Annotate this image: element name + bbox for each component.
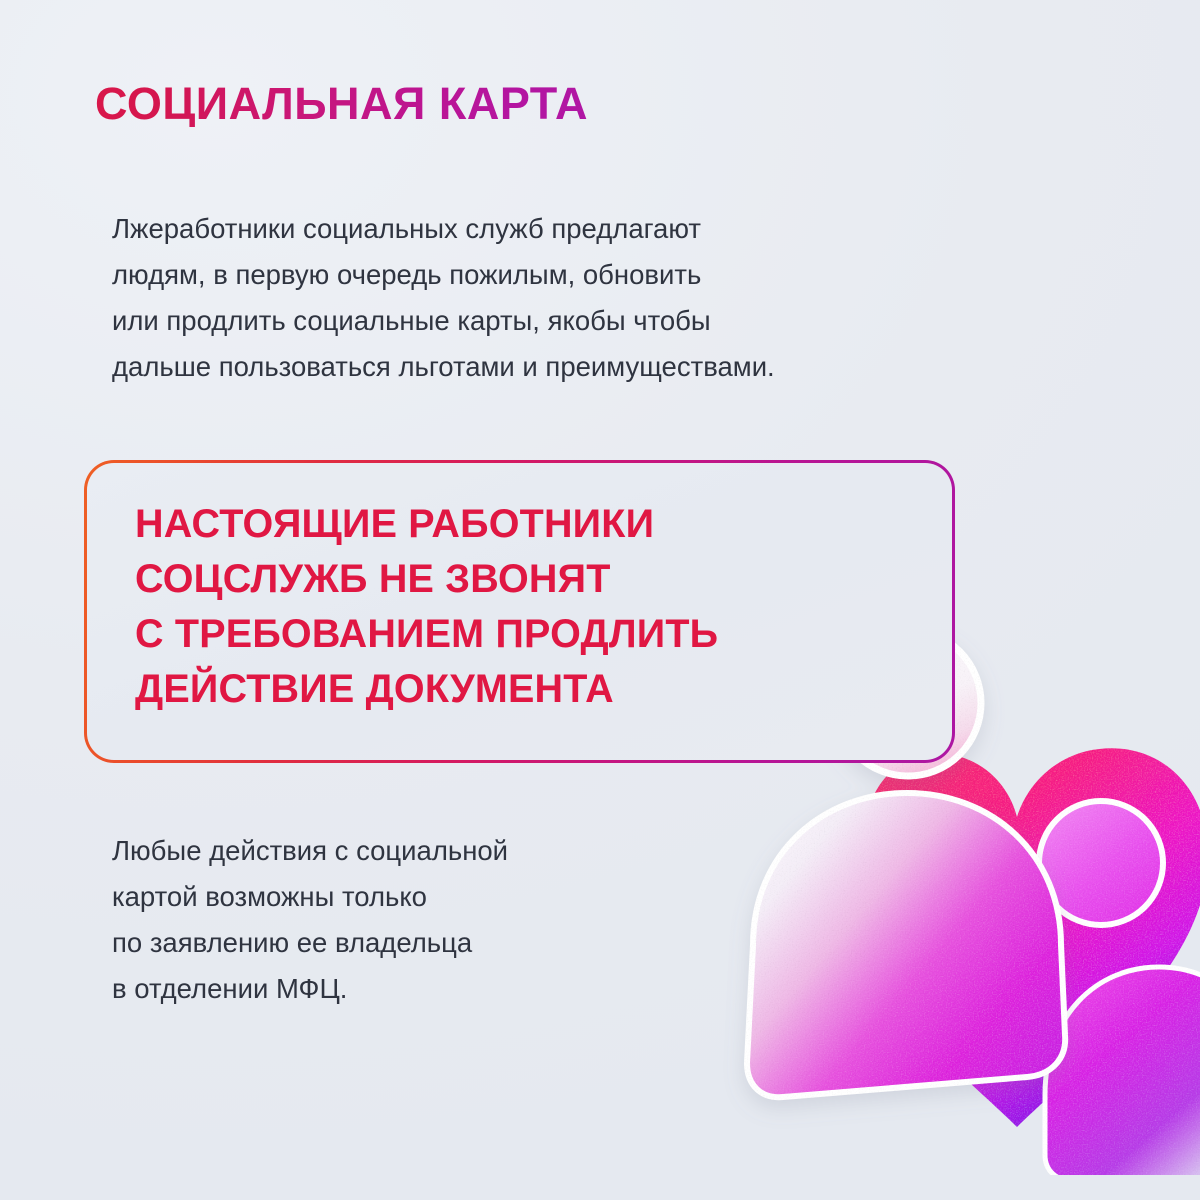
outro-paragraph: Любые действия с социальной картой возмо… [112,828,752,1012]
warning-callout-text: НАСТОЯЩИЕ РАБОТНИКИ СОЦСЛУЖБ НЕ ЗВОНЯТ С… [135,497,718,717]
intro-line-3: или продлить социальные карты, якобы что… [112,298,972,344]
page-title: СОЦИАЛЬНАЯ КАРТА [95,80,588,127]
intro-line-2: людям, в первую очередь пожилым, обновит… [112,252,972,298]
callout-line-3: С ТРЕБОВАНИЕМ ПРОДЛИТЬ [135,607,718,662]
intro-paragraph: Лжеработники социальных служб предлагают… [112,206,972,390]
intro-line-1: Лжеработники социальных служб предлагают [112,206,972,252]
warning-callout-box: НАСТОЯЩИЕ РАБОТНИКИ СОЦСЛУЖБ НЕ ЗВОНЯТ С… [84,460,955,763]
callout-line-4: ДЕЙСТВИЕ ДОКУМЕНТА [135,662,718,717]
outro-line-4: в отделении МФЦ. [112,966,752,1012]
callout-line-1: НАСТОЯЩИЕ РАБОТНИКИ [135,497,718,552]
outro-line-1: Любые действия с социальной [112,828,752,874]
outro-line-3: по заявлению ее владельца [112,920,752,966]
warning-callout-inner: НАСТОЯЩИЕ РАБОТНИКИ СОЦСЛУЖБ НЕ ЗВОНЯТ С… [87,463,952,760]
outro-line-2: картой возможны только [112,874,752,920]
infographic-slide: СОЦИАЛЬНАЯ КАРТА Лжеработники социальных… [0,0,1200,1200]
intro-line-4: дальше пользоваться льготами и преимущес… [112,344,972,390]
callout-line-2: СОЦСЛУЖБ НЕ ЗВОНЯТ [135,552,718,607]
